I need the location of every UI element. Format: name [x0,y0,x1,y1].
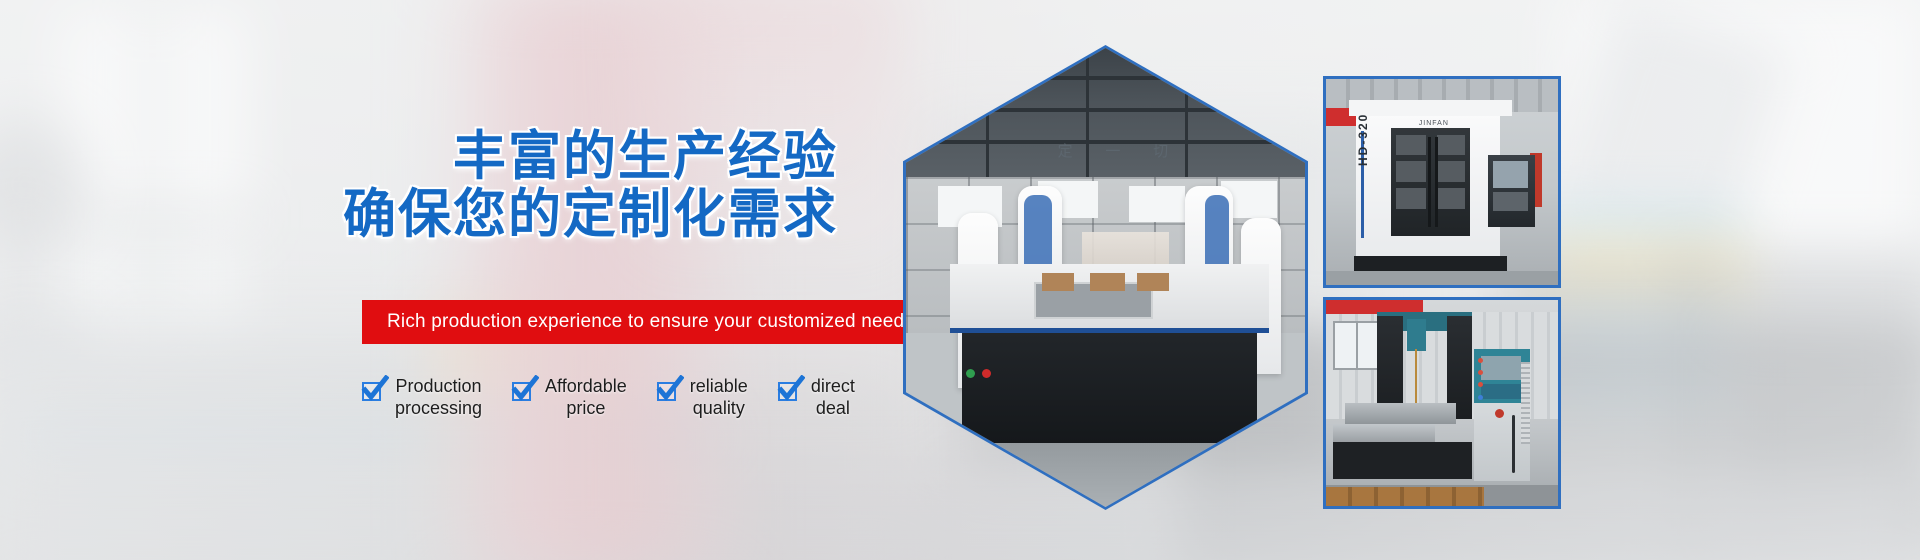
headline-line-2: 确保您的定制化需求 [0,186,838,244]
machine-model-label: HD-320 [1356,112,1370,165]
feature-label: Affordable price [545,375,627,419]
headline-line-1: 丰富的生产经验 [0,128,838,186]
feature-item[interactable]: Production processing [362,375,482,419]
feature-label: reliable quality [690,375,748,419]
headline: 丰富的生产经验 确保您的定制化需求 [0,128,880,244]
thumbnail-machining-center[interactable]: HD-320 JINFAN [1323,76,1561,288]
feature-label: direct deal [811,375,855,419]
feature-item[interactable]: direct deal [778,375,855,419]
promo-banner: 丰富的生产经验 确保您的定制化需求 Rich production experi… [0,0,1920,560]
feature-list: Production processing Affordable price r… [362,375,885,419]
checkbox-checked-icon [362,382,384,404]
feature-label: Production processing [395,375,482,419]
subtitle-bar: Rich production experience to ensure you… [362,300,905,344]
thumbnail-gantry-machine[interactable] [1323,297,1561,509]
checkbox-checked-icon [657,382,679,404]
feature-item[interactable]: reliable quality [657,375,748,419]
hd320-machine-photo: HD-320 JINFAN [1326,79,1558,285]
gantry-machine-photo [1326,300,1558,506]
subtitle-text: Rich production experience to ensure you… [387,311,914,333]
checkbox-checked-icon [512,382,534,404]
feature-item[interactable]: Affordable price [512,375,627,419]
checkbox-checked-icon [778,382,800,404]
